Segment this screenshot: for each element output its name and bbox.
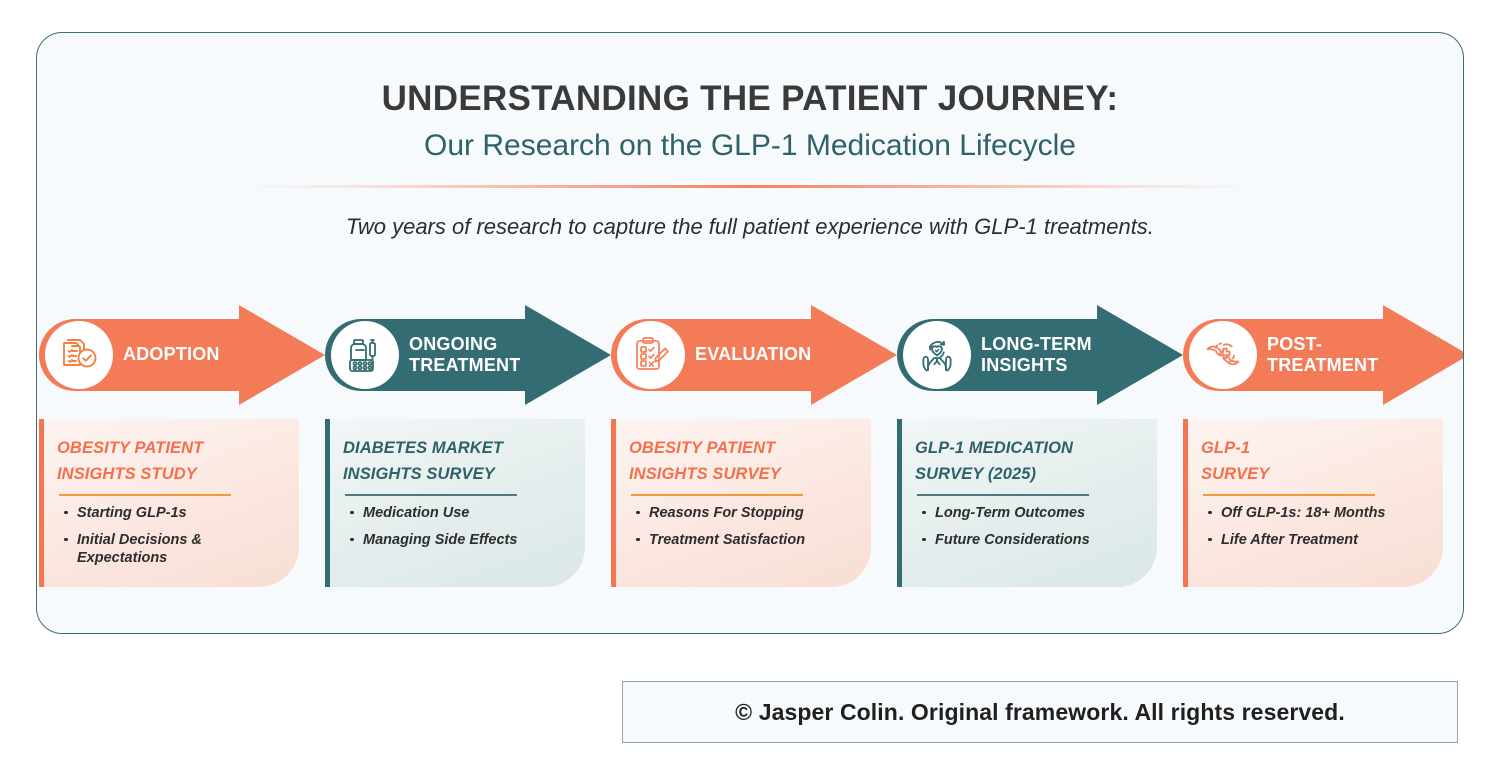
copyright-text: © Jasper Colin. Original framework. All … bbox=[735, 699, 1345, 726]
card-title: OBESITY PATIENT INSIGHTS SURVEY bbox=[629, 435, 857, 487]
clipboard-pencil-icon bbox=[629, 333, 673, 377]
card-bullets: Long-Term Outcomes Future Considerations bbox=[915, 504, 1143, 550]
card-accent-bar bbox=[325, 419, 330, 587]
card-title: DIABETES MARKET INSIGHTS SURVEY bbox=[343, 435, 571, 487]
arrow-head bbox=[1097, 305, 1183, 405]
list-item: Long-Term Outcomes bbox=[921, 504, 1143, 522]
icon-badge bbox=[903, 321, 971, 389]
stage-label: ONGOING TREATMENT bbox=[409, 319, 537, 391]
journey-stages: ADOPTION OBESITY PATIENT INSIGHTS STUDY … bbox=[37, 305, 1463, 605]
stage-banner-long-term-insights[interactable]: LONG-TERM INSIGHTS bbox=[897, 305, 1183, 405]
stage-banner-adoption[interactable]: ADOPTION bbox=[39, 305, 325, 405]
list-item: Treatment Satisfaction bbox=[635, 531, 857, 549]
stage-evaluation: EVALUATION OBESITY PATIENT INSIGHTS SURV… bbox=[611, 305, 897, 605]
card-title: GLP-1 MEDICATION SURVEY (2025) bbox=[915, 435, 1143, 487]
stage-label: LONG-TERM INSIGHTS bbox=[981, 319, 1109, 391]
stage-label: ADOPTION bbox=[123, 319, 251, 391]
stage-label: POST- TREATMENT bbox=[1267, 319, 1395, 391]
card-accent-bar bbox=[897, 419, 902, 587]
header: UNDERSTANDING THE PATIENT JOURNEY: Our R… bbox=[37, 33, 1463, 240]
hands-cross-icon bbox=[1201, 333, 1245, 377]
arrow-head bbox=[239, 305, 325, 405]
stage-label: EVALUATION bbox=[695, 319, 823, 391]
card-accent-bar bbox=[39, 419, 44, 587]
icon-badge bbox=[617, 321, 685, 389]
card-bullets: Off GLP-1s: 18+ Months Life After Treatm… bbox=[1201, 504, 1429, 550]
stage-ongoing-treatment: ONGOING TREATMENT DIABETES MARKET INSIGH… bbox=[325, 305, 611, 605]
card-bullets: Reasons For Stopping Treatment Satisfact… bbox=[629, 504, 857, 550]
infographic-container: UNDERSTANDING THE PATIENT JOURNEY: Our R… bbox=[36, 32, 1464, 634]
stage-card-post-treatment: GLP-1 SURVEY Off GLP-1s: 18+ Months Life… bbox=[1183, 419, 1443, 587]
tagline: Two years of research to capture the ful… bbox=[37, 214, 1463, 240]
stage-adoption: ADOPTION OBESITY PATIENT INSIGHTS STUDY … bbox=[39, 305, 325, 605]
card-accent-bar bbox=[1183, 419, 1188, 587]
document-check-icon bbox=[57, 333, 101, 377]
card-rule bbox=[1203, 494, 1375, 496]
list-item: Future Considerations bbox=[921, 531, 1143, 549]
list-item: Medication Use bbox=[349, 504, 571, 522]
medication-bottle-icon bbox=[343, 333, 387, 377]
arrow-head bbox=[525, 305, 611, 405]
card-rule bbox=[917, 494, 1089, 496]
card-rule bbox=[59, 494, 231, 496]
icon-badge bbox=[331, 321, 399, 389]
arrow-head bbox=[1383, 305, 1464, 405]
stage-card-adoption: OBESITY PATIENT INSIGHTS STUDY Starting … bbox=[39, 419, 299, 587]
card-title: OBESITY PATIENT INSIGHTS STUDY bbox=[57, 435, 285, 487]
list-item: Off GLP-1s: 18+ Months bbox=[1207, 504, 1429, 522]
copyright-box: © Jasper Colin. Original framework. All … bbox=[622, 681, 1458, 743]
card-bullets: Starting GLP-1s Initial Decisions & Expe… bbox=[57, 504, 285, 568]
arrow-head bbox=[811, 305, 897, 405]
stage-banner-evaluation[interactable]: EVALUATION bbox=[611, 305, 897, 405]
card-title: GLP-1 SURVEY bbox=[1201, 435, 1429, 487]
infographic-page: UNDERSTANDING THE PATIENT JOURNEY: Our R… bbox=[0, 0, 1500, 784]
card-rule bbox=[631, 494, 803, 496]
list-item: Initial Decisions & Expectations bbox=[63, 531, 285, 568]
stage-post-treatment: POST- TREATMENT GLP-1 SURVEY Off GLP-1s:… bbox=[1183, 305, 1464, 605]
title-divider bbox=[239, 185, 1261, 188]
icon-badge bbox=[45, 321, 113, 389]
card-accent-bar bbox=[611, 419, 616, 587]
stage-card-evaluation: OBESITY PATIENT INSIGHTS SURVEY Reasons … bbox=[611, 419, 871, 587]
stage-banner-ongoing-treatment[interactable]: ONGOING TREATMENT bbox=[325, 305, 611, 405]
card-bullets: Medication Use Managing Side Effects bbox=[343, 504, 571, 550]
stage-card-ongoing-treatment: DIABETES MARKET INSIGHTS SURVEY Medicati… bbox=[325, 419, 585, 587]
page-subtitle: Our Research on the GLP-1 Medication Lif… bbox=[37, 127, 1463, 165]
hands-heart-icon bbox=[915, 333, 959, 377]
list-item: Starting GLP-1s bbox=[63, 504, 285, 522]
stage-card-long-term-insights: GLP-1 MEDICATION SURVEY (2025) Long-Term… bbox=[897, 419, 1157, 587]
page-title: UNDERSTANDING THE PATIENT JOURNEY: bbox=[37, 79, 1463, 119]
stage-long-term-insights: LONG-TERM INSIGHTS GLP-1 MEDICATION SURV… bbox=[897, 305, 1183, 605]
stage-banner-post-treatment[interactable]: POST- TREATMENT bbox=[1183, 305, 1464, 405]
list-item: Reasons For Stopping bbox=[635, 504, 857, 522]
card-rule bbox=[345, 494, 517, 496]
list-item: Life After Treatment bbox=[1207, 531, 1429, 549]
list-item: Managing Side Effects bbox=[349, 531, 571, 549]
icon-badge bbox=[1189, 321, 1257, 389]
